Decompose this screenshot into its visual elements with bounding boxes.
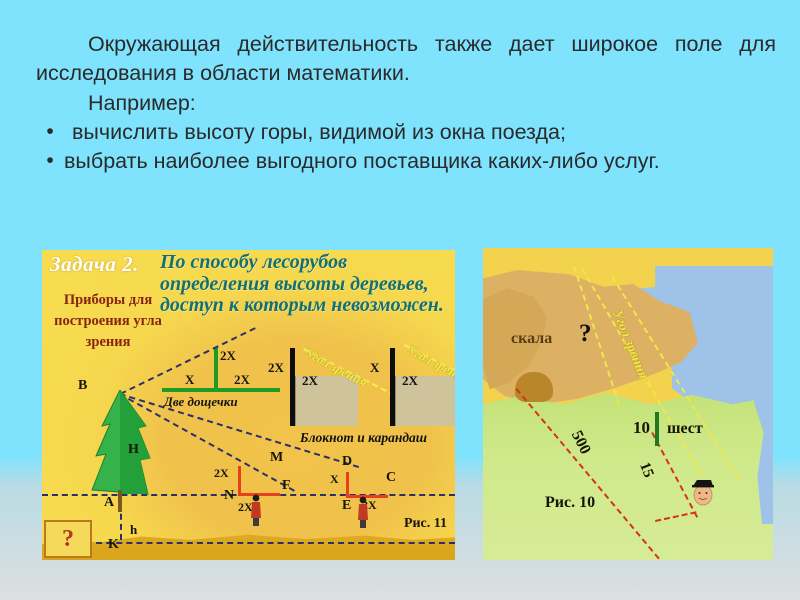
- bullet-text: выбрать наиболее выгодного поставщика ка…: [64, 147, 776, 176]
- bullet-icon: •: [36, 147, 64, 175]
- notepad-caption: Блокнот и карандаш: [300, 430, 427, 446]
- tree-label-height: H: [128, 442, 139, 458]
- rock-label: скала: [511, 330, 552, 348]
- point-label-e: E: [342, 498, 351, 514]
- angle-marker-mnf: [238, 466, 280, 496]
- bullet-text: вычислить высоту горы, видимой из окна п…: [64, 118, 776, 147]
- pole-height-label: 10: [633, 418, 650, 438]
- paragraph-example-label: Например:: [36, 89, 776, 118]
- board-label-top: 2X: [220, 348, 236, 364]
- list-item: • вычислить высоту горы, видимой из окна…: [36, 118, 776, 147]
- segment-label-de: X: [330, 472, 339, 487]
- pole-icon: [655, 412, 659, 446]
- notepad1-label-b: 2X: [302, 373, 318, 389]
- notepad2-label-b: 2X: [402, 373, 418, 389]
- task-title: Задача 2.: [50, 252, 139, 277]
- ground-base-line: [86, 542, 455, 544]
- point-label-m: M: [270, 450, 283, 466]
- observer-head-icon: [689, 476, 717, 506]
- two-boards-diagram: 2X X 2X Две дощечки: [162, 348, 282, 404]
- cave-icon: [515, 372, 553, 402]
- board-vertical: [214, 348, 218, 390]
- question-mark-right: ?: [579, 320, 592, 348]
- devices-caption: Приборы для построения угла зрения: [48, 290, 168, 353]
- point-label-c: C: [386, 470, 396, 486]
- question-mark-box: ?: [44, 520, 92, 558]
- list-item: • выбрать наиболее выгодного поставщика …: [36, 147, 776, 176]
- board-horizontal: [162, 388, 280, 392]
- tree-label-small-height: h: [130, 522, 137, 538]
- tree-label-ground: K: [108, 537, 119, 553]
- observer-figure-1: [249, 494, 261, 524]
- point-label-f: F: [282, 478, 291, 494]
- notepad1-label-a: 2X: [268, 360, 284, 376]
- slide-canvas: Окружающая действительность также дает ш…: [0, 0, 800, 600]
- figure-rock-height: скала ? Угол зрения 10 шест 500 15 Рис. …: [483, 248, 773, 560]
- notepad2-label-a: X: [370, 360, 379, 376]
- tree-label-top: B: [78, 378, 87, 394]
- figure-lumberjack-method: Задача 2. Приборы для построения угла зр…: [42, 250, 455, 560]
- segment-label-mn: 2X: [214, 466, 229, 481]
- paragraph-intro: Окружающая действительность также дает ш…: [36, 30, 776, 88]
- tree-label-base: A: [104, 495, 114, 511]
- bullet-icon: •: [36, 118, 64, 146]
- observer-figure-2: [356, 496, 368, 526]
- slide-text-block: Окружающая действительность также дает ш…: [36, 30, 776, 176]
- method-title: По способу лесорубов определения высоты …: [160, 252, 452, 317]
- angle-marker-dec: [346, 472, 388, 498]
- pole-name-label: шест: [667, 420, 703, 438]
- figure-left-caption: Рис. 11: [404, 516, 447, 532]
- board-label-right: 2X: [234, 372, 250, 388]
- figure-right-caption: Рис. 10: [545, 494, 595, 512]
- board-label-left: X: [185, 372, 194, 388]
- point-label-n: N: [224, 488, 234, 504]
- point-label-d: D: [342, 454, 352, 470]
